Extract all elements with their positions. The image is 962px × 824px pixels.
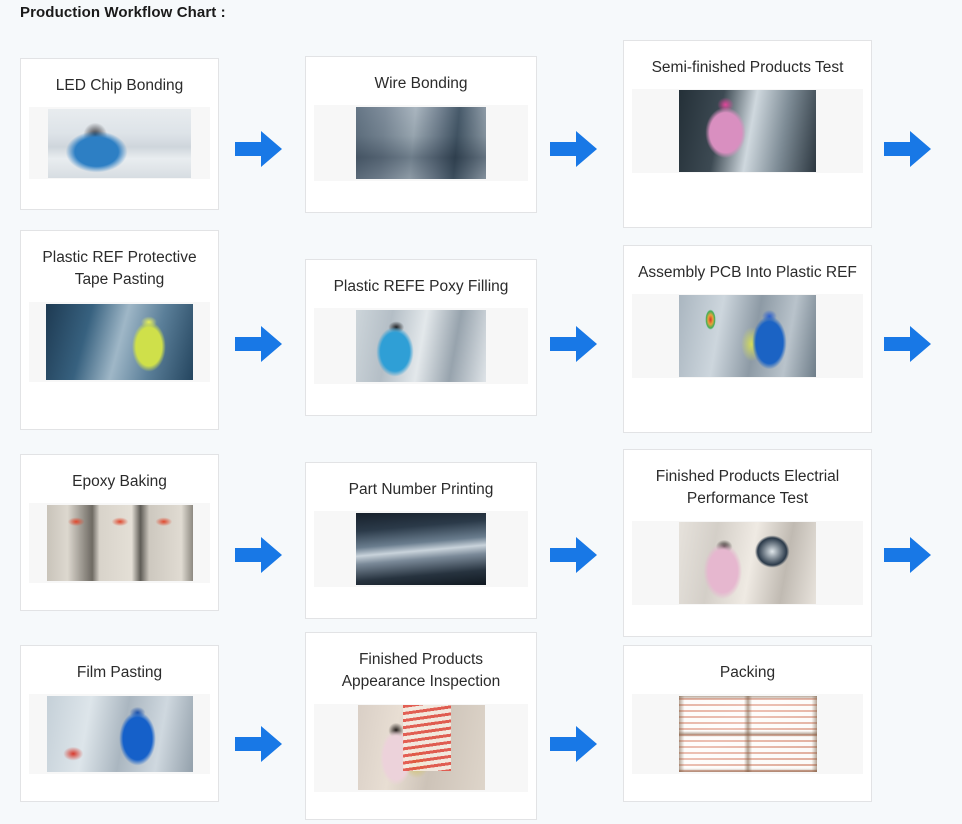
arrow-right-icon <box>235 536 283 574</box>
step-photo-band <box>314 511 528 587</box>
step-photo-band <box>632 294 863 378</box>
step-label: Assembly PCB Into Plastic REF <box>632 256 863 288</box>
step-photo-band <box>632 694 863 774</box>
step-photo-band <box>29 694 210 774</box>
step-label: Plastic REFE Poxy Filling <box>314 270 528 302</box>
plastic-ref-tape-photo <box>46 304 193 380</box>
step-card-appearance-inspection[interactable]: Finished Products Appearance Inspection <box>305 632 537 820</box>
wire-bonding-photo <box>356 107 486 179</box>
step-card-epoxy-baking[interactable]: Epoxy Baking <box>20 454 219 611</box>
step-label: Film Pasting <box>29 656 210 688</box>
step-card-plastic-ref-tape[interactable]: Plastic REF Protective Tape Pasting <box>20 230 219 430</box>
electrical-test-photo <box>679 522 816 604</box>
step-label: Finished Products Appearance Inspection <box>314 643 528 698</box>
arrow-right-icon <box>884 536 932 574</box>
arrow-right-icon <box>884 130 932 168</box>
step-card-plastic-refe-poxy[interactable]: Plastic REFE Poxy Filling <box>305 259 537 416</box>
arrow-right-icon <box>550 325 598 363</box>
step-label: Wire Bonding <box>314 67 528 99</box>
epoxy-baking-photo <box>47 505 193 581</box>
arrow-right-icon <box>235 725 283 763</box>
plastic-refe-poxy-photo <box>356 310 486 382</box>
semi-finished-test-photo <box>679 90 816 172</box>
step-label: Semi-finished Products Test <box>632 51 863 83</box>
step-photo-band <box>29 503 210 583</box>
step-label: Finished Products Electrial Performance … <box>632 460 863 515</box>
appearance-inspection-photo <box>358 705 485 790</box>
step-photo-band <box>314 105 528 181</box>
led-chip-bonding-photo <box>48 109 191 178</box>
step-card-electrical-test[interactable]: Finished Products Electrial Performance … <box>623 449 872 637</box>
step-photo-band <box>632 89 863 173</box>
arrow-right-icon <box>235 325 283 363</box>
step-card-packing[interactable]: Packing <box>623 645 872 802</box>
film-pasting-photo <box>47 696 193 772</box>
step-card-part-number-printing[interactable]: Part Number Printing <box>305 462 537 619</box>
step-card-assembly-pcb[interactable]: Assembly PCB Into Plastic REF <box>623 245 872 433</box>
step-photo-band <box>314 308 528 384</box>
page-title: Production Workflow Chart : <box>20 4 226 21</box>
step-label: Plastic REF Protective Tape Pasting <box>29 241 210 296</box>
step-label: LED Chip Bonding <box>29 69 210 101</box>
arrow-right-icon <box>235 130 283 168</box>
arrow-right-icon <box>550 536 598 574</box>
step-photo-band <box>632 521 863 605</box>
production-workflow-page: Production Workflow Chart : LED Chip Bon… <box>0 0 962 824</box>
assembly-pcb-photo <box>679 295 816 377</box>
part-number-printing-photo <box>356 513 486 585</box>
step-label: Epoxy Baking <box>29 465 210 497</box>
step-label: Packing <box>632 656 863 688</box>
step-label: Part Number Printing <box>314 473 528 505</box>
step-photo-band <box>314 704 528 792</box>
arrow-right-icon <box>550 130 598 168</box>
arrow-right-icon <box>884 325 932 363</box>
step-card-led-chip-bonding[interactable]: LED Chip Bonding <box>20 58 219 210</box>
packing-photo <box>679 696 817 772</box>
step-card-film-pasting[interactable]: Film Pasting <box>20 645 219 802</box>
step-card-semi-finished-test[interactable]: Semi-finished Products Test <box>623 40 872 228</box>
arrow-right-icon <box>550 725 598 763</box>
step-photo-band <box>29 302 210 382</box>
step-card-wire-bonding[interactable]: Wire Bonding <box>305 56 537 213</box>
step-photo-band <box>29 107 210 179</box>
